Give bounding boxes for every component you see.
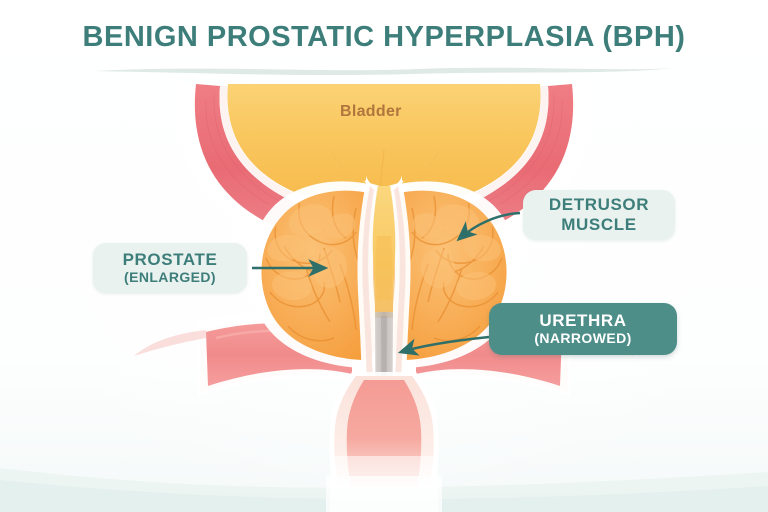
callout-urethra-line1: URETHRA xyxy=(539,311,626,331)
callout-urethra[interactable]: URETHRA (NARROWED) xyxy=(489,303,677,355)
callout-detrusor-line2: MUSCLE xyxy=(561,215,636,235)
callout-prostate[interactable]: PROSTATE (ENLARGED) xyxy=(93,243,247,293)
callout-prostate-line1: PROSTATE xyxy=(123,250,218,270)
bladder-inline-label: Bladder xyxy=(340,103,402,121)
callout-urethra-line2: (NARROWED) xyxy=(534,330,631,347)
title-underline-swoosh xyxy=(88,64,680,76)
callout-detrusor[interactable]: DETRUSOR MUSCLE xyxy=(523,190,675,240)
callout-prostate-line2: (ENLARGED) xyxy=(124,269,216,286)
page-title: BENIGN PROSTATIC HYPERPLASIA (BPH) xyxy=(0,22,768,54)
title-block: BENIGN PROSTATIC HYPERPLASIA (BPH) xyxy=(0,22,768,54)
diagram-canvas: BENIGN PROSTATIC HYPERPLASIA (BPH) Bladd… xyxy=(0,0,768,512)
callout-detrusor-line1: DETRUSOR xyxy=(549,195,649,215)
shaft-group xyxy=(326,372,442,512)
